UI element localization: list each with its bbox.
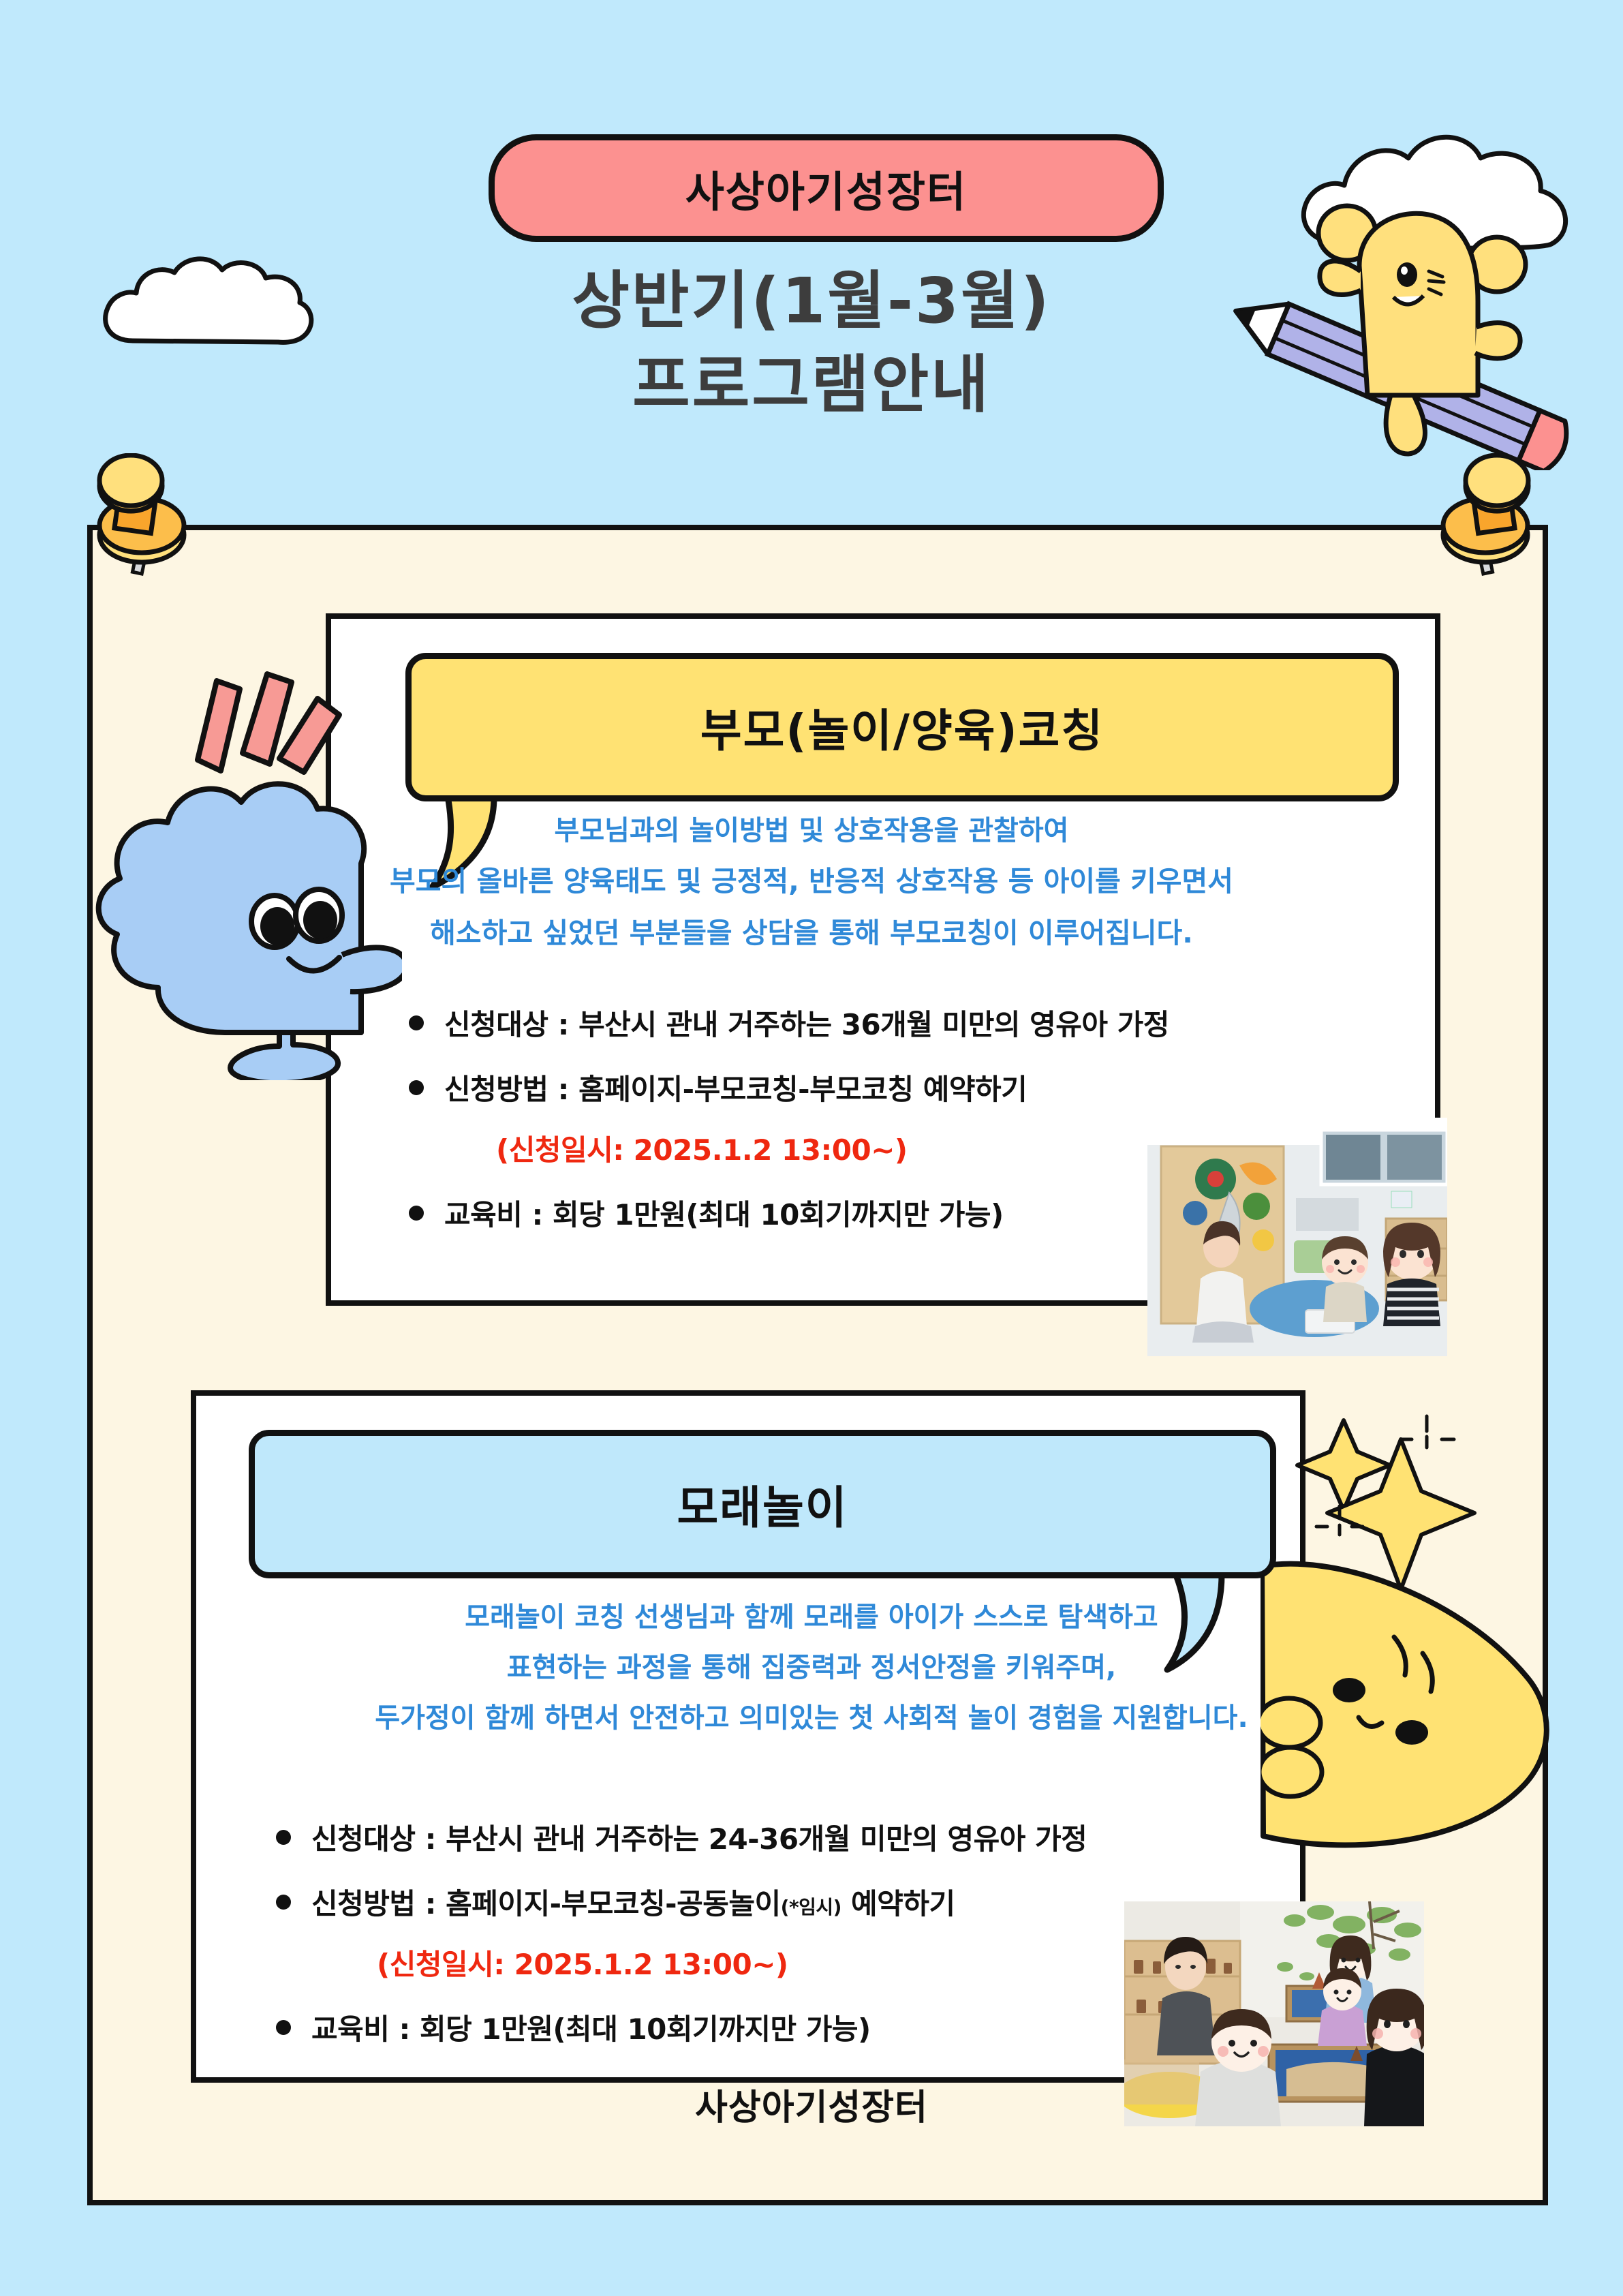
bullet-list-sand-play: 신청대상 : 부산시 관내 거주하는 24-36개월 미만의 영유아 가정 신청… [276,1816,1087,2071]
bullet-text: 신청방법 : 홈페이지-부모코칭-공동놀이(*임시) 예약하기 [311,1881,955,1923]
bullet-dot-icon [276,1830,291,1845]
section-description-parent-coaching: 부모님과의 놀이방법 및 상호작용을 관찰하여 부모의 올바른 양육태도 및 긍… [0,806,1623,960]
footer-label: 사상아기성장터 [695,2087,928,2128]
list-item: 신청방법 : 홈페이지-부모코칭-부모코칭 예약하기 [409,1067,1169,1108]
bullet-text-tail: 예약하기 [841,1887,955,1920]
bullet-text: 교육비 : 회당 1만원(최대 10회기까지만 가능) [444,1192,1004,1234]
bullet-text-note: (*임시) [781,1896,841,1918]
desc-line: 표현하는 과정을 통해 집중력과 정서안정을 키워주며, [0,1642,1623,1693]
poster-canvas: 사상아기성장터 상반기(1월-3월) 프로그램안내 부모(놀이/양육)코칭 부모… [0,0,1623,2296]
desc-line: 해소하고 싶었던 부분들을 상담을 통해 부모코칭이 이루어집니다. [0,908,1623,960]
desc-line: 모래놀이 코칭 선생님과 함께 모래를 아이가 스스로 탐색하고 [0,1592,1623,1642]
page-title: 상반기(1월-3월) 프로그램안내 [0,259,1623,427]
bullet-list-parent-coaching: 신청대상 : 부산시 관내 거주하는 36개월 미만의 영유아 가정 신청방법 … [409,1002,1169,1257]
list-item: 신청대상 : 부산시 관내 거주하는 36개월 미만의 영유아 가정 [409,1002,1169,1043]
list-item: 교육비 : 회당 1만원(최대 10회기까지만 가능) [409,1192,1169,1234]
bullet-text: 교육비 : 회당 1만원(최대 10회기까지만 가능) [311,2006,871,2048]
bullet-text-main: 신청방법 : 홈페이지-부모코칭-공동놀이 [311,1887,781,1920]
application-date-note: (신청일시: 2025.1.2 13:00~) [377,1942,1087,1983]
section-title-sand-play: 모래놀이 [677,1471,848,1537]
section-title-bubble-parent-coaching: 부모(놀이/양육)코칭 [405,653,1399,801]
pushpin-icon [82,453,211,586]
list-item: 교육비 : 회당 1만원(최대 10회기까지만 가능) [276,2006,1087,2048]
section-title-parent-coaching: 부모(놀이/양육)코칭 [700,694,1104,760]
bullet-dot-icon [409,1206,424,1221]
program-photo-parent-coaching [1147,1118,1447,1356]
application-date-note: (신청일시: 2025.1.2 13:00~) [496,1127,1169,1169]
bullet-dot-icon [276,2020,291,2035]
list-item: 신청방법 : 홈페이지-부모코칭-공동놀이(*임시) 예약하기 [276,1881,1087,1923]
pushpin-icon [1421,453,1550,586]
bullet-text: 신청대상 : 부산시 관내 거주하는 24-36개월 미만의 영유아 가정 [311,1816,1087,1858]
bullet-dot-icon [409,1080,424,1095]
desc-line: 부모의 올바른 양육태도 및 긍정적, 반응적 상호작용 등 아이를 키우면서 [0,856,1623,908]
org-badge: 사상아기성장터 [489,134,1164,242]
footer: 사상아기성장터 [0,2079,1623,2130]
page-title-line-2: 프로그램안내 [0,343,1623,427]
bullet-text: 신청방법 : 홈페이지-부모코칭-부모코칭 예약하기 [444,1067,1027,1108]
page-title-line-1: 상반기(1월-3월) [0,259,1623,343]
bullet-dot-icon [409,1015,424,1030]
org-badge-label: 사상아기성장터 [685,157,967,219]
section-description-sand-play: 모래놀이 코칭 선생님과 함께 모래를 아이가 스스로 탐색하고 표현하는 과정… [0,1592,1623,1743]
bullet-text: 신청대상 : 부산시 관내 거주하는 36개월 미만의 영유아 가정 [444,1002,1169,1043]
section-title-bubble-sand-play: 모래놀이 [249,1430,1276,1578]
desc-line: 부모님과의 놀이방법 및 상호작용을 관찰하여 [0,806,1623,856]
desc-line: 두가정이 함께 하면서 안전하고 의미있는 첫 사회적 놀이 경험을 지원합니다… [0,1693,1623,1743]
list-item: 신청대상 : 부산시 관내 거주하는 24-36개월 미만의 영유아 가정 [276,1816,1087,1858]
bullet-dot-icon [276,1895,291,1910]
